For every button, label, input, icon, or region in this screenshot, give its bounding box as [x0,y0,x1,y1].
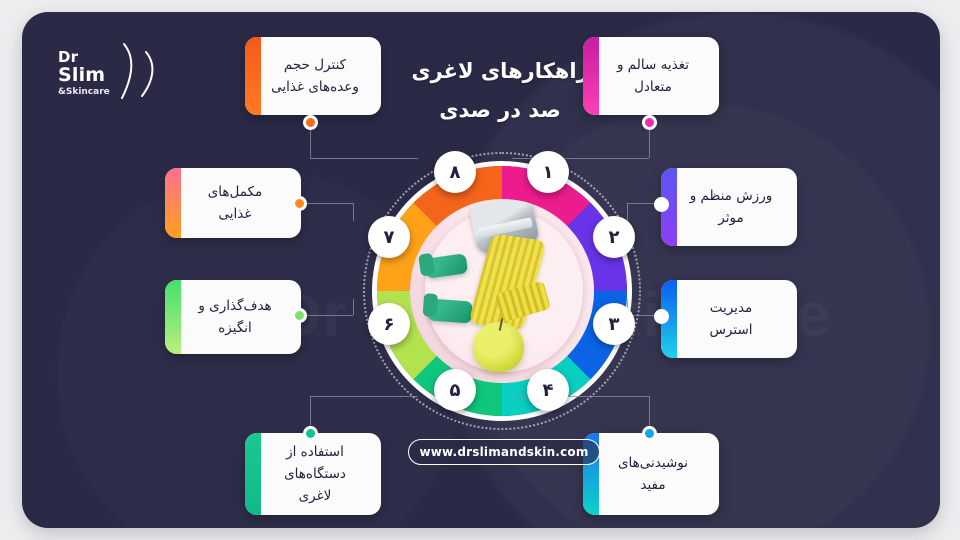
card-5-label-line1: استفاده از [271,441,359,463]
card-6-accent [165,280,181,354]
card-8-portion-control[interactable]: کنترل حجم وعده‌های غذایی [245,37,381,115]
connector-2-v [627,203,628,221]
connector-6-v [353,299,354,315]
website-url-badge[interactable]: www.drslimandskin.com [408,439,600,465]
card-1-healthy-nutrition[interactable]: تغذیه سالم و متعادل [583,37,719,115]
card-6-label-line2: انگیزه [191,317,279,339]
card-5-label-line2: دستگاه‌های [271,463,359,485]
connector-5-h [310,396,418,397]
card-1-label: تغذیه سالم و متعادل [583,50,719,103]
card-3-label: مدیریت استرس [661,293,797,346]
card-8-connector-dot [303,115,318,130]
wheel-number-4[interactable]: ۴ [527,369,569,411]
card-6-label-line1: هدف‌گذاری و [191,295,279,317]
wheel-center-photo [410,199,594,383]
infographic-canvas: Dr Slim &Skincare Dr Slim &Skincare راهک… [0,0,960,540]
wheel-number-6[interactable]: ۶ [368,303,410,345]
card-8-label-line2: وعده‌های غذایی [271,76,359,98]
wheel-number-7[interactable]: ۷ [368,216,410,258]
page-title: راهکارهای لاغری صد در صدی [394,52,606,130]
card-8-label-line1: کنترل حجم [271,54,359,76]
card-2-connector-dot [654,197,669,212]
dumbbell-icon [428,299,474,324]
card-7-supplements[interactable]: مکمل‌های غذایی [165,168,301,238]
strategy-wheel [363,152,641,430]
card-5-label: استفاده از دستگاه‌های لاغری [245,437,381,512]
brand-logo-line2: Slim [58,66,110,85]
card-5-label-line3: لاغری [271,485,359,507]
card-5-connector-dot [303,426,318,441]
card-7-label: مکمل‌های غذایی [165,177,301,230]
card-5-accent [245,433,261,515]
card-6-connector-dot [292,308,307,323]
diet-photo [410,199,594,383]
card-7-label-line1: مکمل‌های غذایی [191,181,279,226]
brand-logo-text: Dr Slim &Skincare [58,50,110,97]
card-1-connector-dot [642,115,657,130]
brand-logo-subtitle: &Skincare [58,88,110,97]
card-3-stress-management[interactable]: مدیریت استرس [661,280,797,358]
card-2-label-line1: ورزش منظم و [687,185,775,207]
wheel-number-1[interactable]: ۱ [527,151,569,193]
wheel-number-8[interactable]: ۸ [434,151,476,193]
wheel-number-2[interactable]: ۲ [593,216,635,258]
card-8-accent [245,37,261,115]
page-title-line2: صد در صدی [394,91,606,130]
card-4-label-line1: نوشیدنی‌های [609,452,697,474]
body-curve-icon [110,40,162,106]
infographic-board: Dr Slim &Skincare Dr Slim &Skincare راهک… [22,12,940,528]
card-3-connector-dot [654,309,669,324]
card-4-connector-dot [642,426,657,441]
card-7-accent [165,168,181,238]
card-8-label: کنترل حجم وعده‌های غذایی [245,50,381,103]
card-6-goal-setting[interactable]: هدف‌گذاری و انگیزه [165,280,301,354]
wheel-number-3[interactable]: ۳ [593,303,635,345]
card-1-label-line1: تغذیه سالم و [609,54,697,76]
card-2-label: ورزش منظم و موثر [661,181,797,234]
card-4-label: نوشیدنی‌های مفید [583,448,719,501]
apple-icon [473,322,525,372]
card-6-label: هدف‌گذاری و انگیزه [165,291,301,344]
card-7-connector-dot [292,196,307,211]
card-2-regular-exercise[interactable]: ورزش منظم و موثر [661,168,797,246]
connector-8-h [310,158,418,159]
brand-logo-line1: Dr [58,50,110,65]
card-3-label-line1: مدیریت استرس [687,297,775,342]
brand-logo: Dr Slim &Skincare [52,40,172,104]
wheel-number-5[interactable]: ۵ [434,369,476,411]
card-1-label-line2: متعادل [609,76,697,98]
page-title-line1: راهکارهای لاغری [394,52,606,91]
card-4-useful-drinks[interactable]: نوشیدنی‌های مفید [583,433,719,515]
card-1-accent [583,37,599,115]
card-4-label-line2: مفید [609,474,697,496]
card-5-slimming-devices[interactable]: استفاده از دستگاه‌های لاغری [245,433,381,515]
card-2-label-line2: موثر [687,207,775,229]
connector-7-v [353,203,354,221]
